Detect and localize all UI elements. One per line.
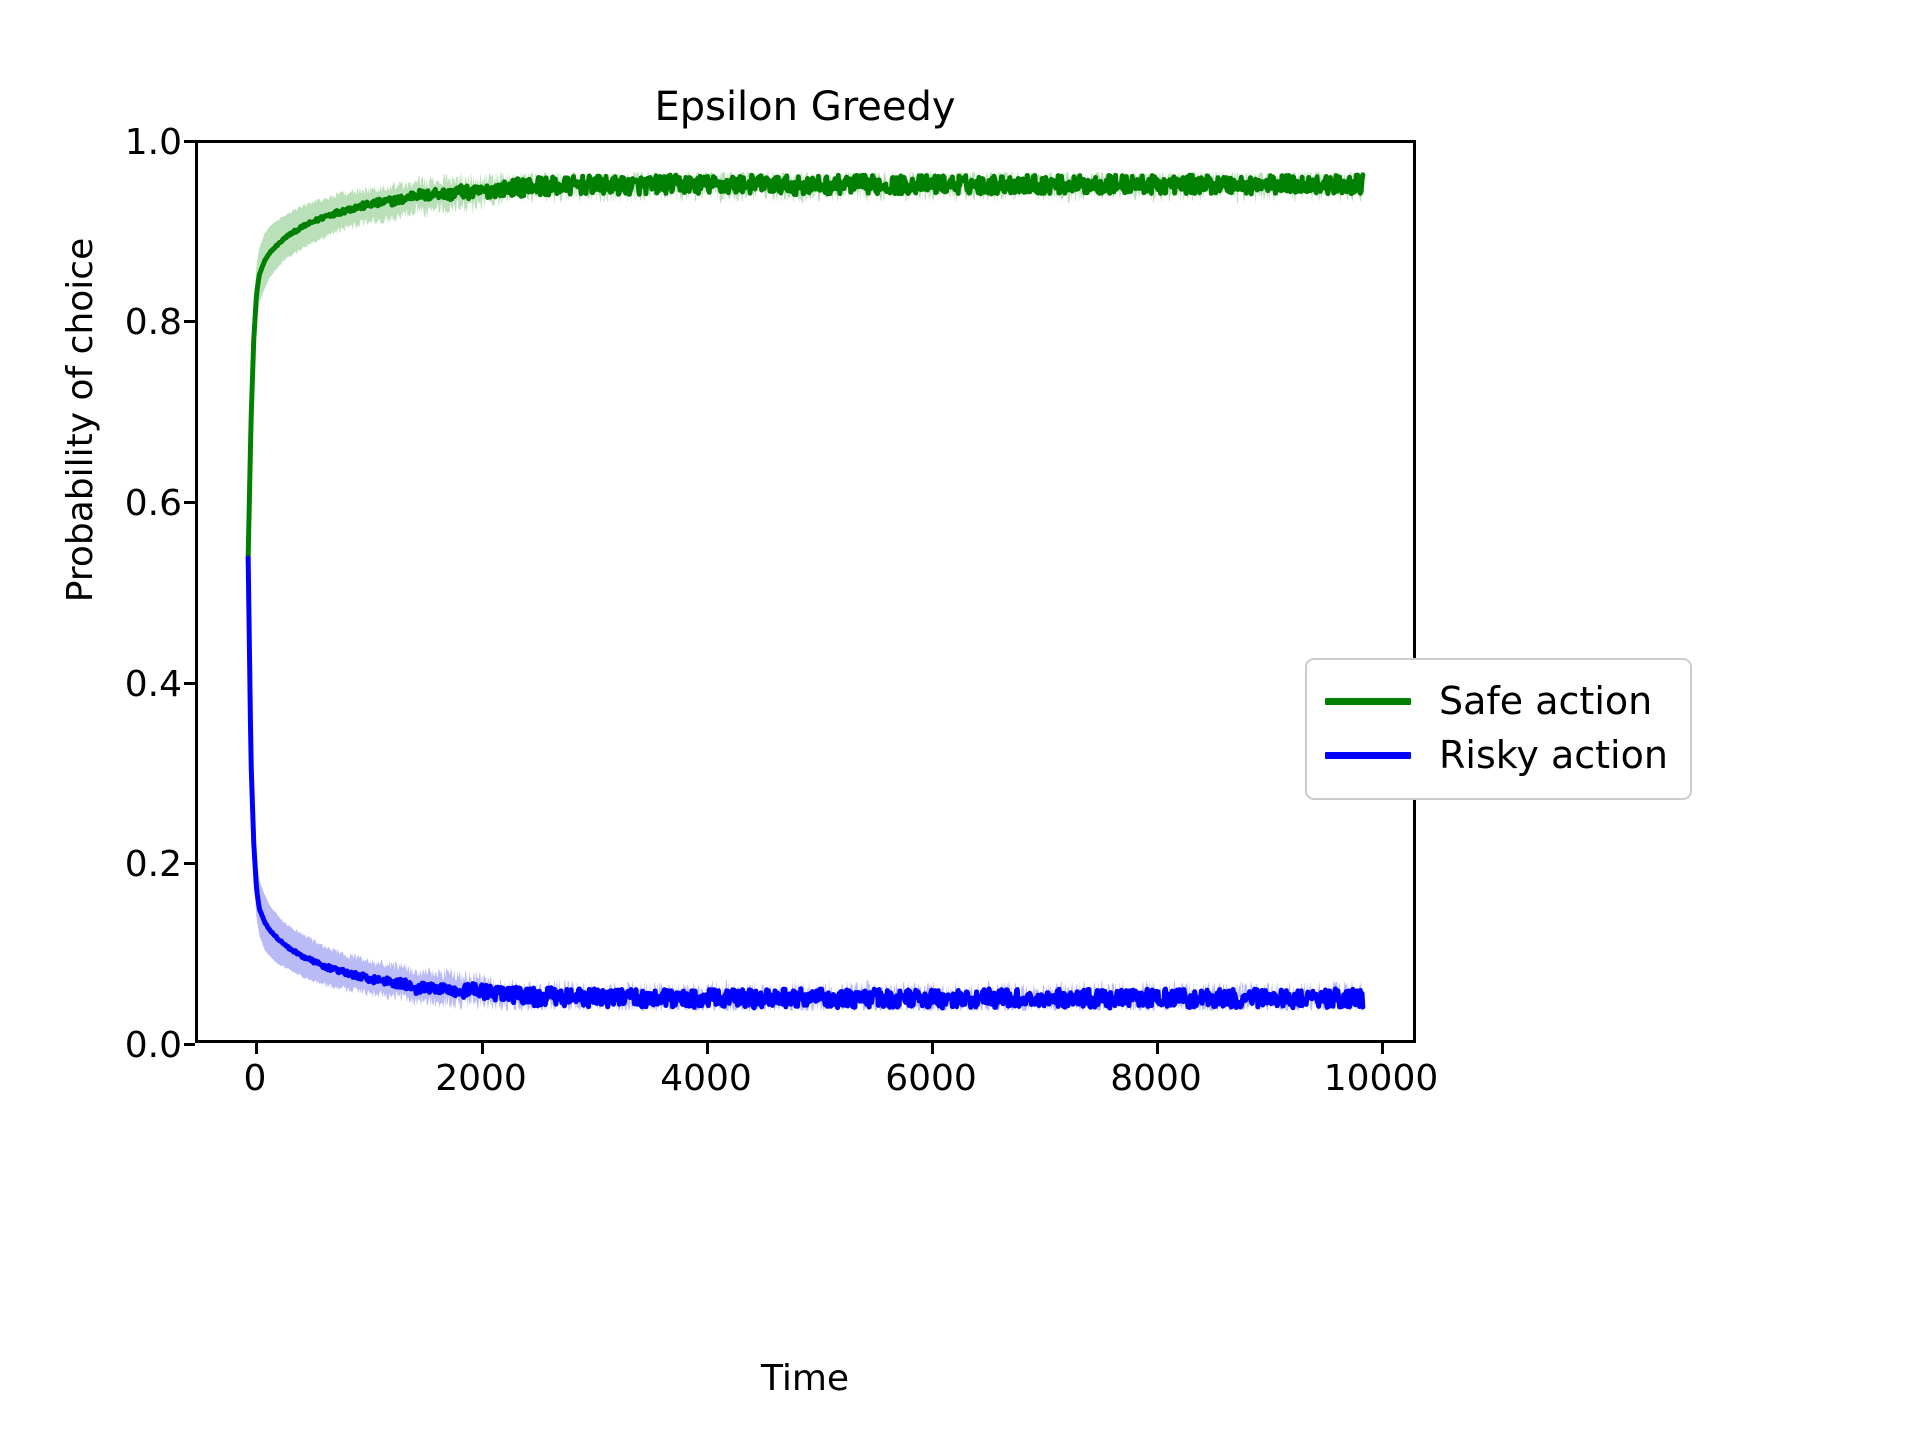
ytick-label-3: 0.6 [125, 483, 182, 524]
ytick-label-4: 0.4 [125, 664, 182, 705]
ytick-label-2: 0.8 [125, 302, 182, 343]
ytick-label-6: 0.0 [125, 1025, 182, 1066]
x-axis-label: Time [0, 1358, 1610, 1399]
ytick-label-5: 0.2 [125, 844, 182, 885]
xtick-mark-5 [1156, 1043, 1159, 1054]
chart-legend[interactable]: Safe action Risky action [1305, 658, 1692, 800]
legend-item-risky-action[interactable]: Risky action [1325, 728, 1668, 782]
series-line-safe-action [248, 175, 1363, 558]
chart-canvas [198, 143, 1413, 1040]
plot-area [195, 140, 1416, 1043]
xtick-mark-1 [255, 1043, 258, 1054]
xtick-label-5: 8000 [1110, 1058, 1202, 1099]
xtick-label-3: 4000 [660, 1058, 752, 1099]
ytick-mark-2 [184, 320, 195, 323]
y-axis-label: Probability of choice [60, 238, 101, 602]
xtick-label-1: 0 [244, 1058, 267, 1099]
ytick-label-1: 1.0 [125, 122, 182, 163]
ytick-mark-3 [184, 501, 195, 504]
series-line-risky-action [248, 558, 1363, 1008]
legend-label-risky-action: Risky action [1439, 733, 1668, 777]
xtick-mark-2 [481, 1043, 484, 1054]
y-axis-label-wrapper: Probability of choice [50, 120, 110, 720]
xtick-label-4: 6000 [885, 1058, 977, 1099]
legend-label-safe-action: Safe action [1439, 679, 1652, 723]
confidence-band-risky-action [248, 558, 1363, 1011]
xtick-mark-3 [706, 1043, 709, 1054]
legend-swatch-risky-action [1325, 752, 1411, 759]
legend-swatch-safe-action [1325, 698, 1411, 705]
xtick-label-2: 2000 [435, 1058, 527, 1099]
confidence-band-safe-action [248, 172, 1363, 558]
chart-title: Epsilon Greedy [0, 84, 1610, 130]
xtick-mark-4 [931, 1043, 934, 1054]
ytick-mark-6 [184, 1043, 195, 1046]
ytick-mark-5 [184, 862, 195, 865]
xtick-mark-6 [1381, 1043, 1384, 1054]
ytick-mark-4 [184, 682, 195, 685]
legend-item-safe-action[interactable]: Safe action [1325, 674, 1668, 728]
ytick-mark-1 [184, 140, 195, 143]
xtick-label-6: 10000 [1324, 1058, 1439, 1099]
chart-figure: Epsilon Greedy 1.0 0.8 0.6 0.4 0.2 0.0 0… [0, 0, 1920, 1440]
